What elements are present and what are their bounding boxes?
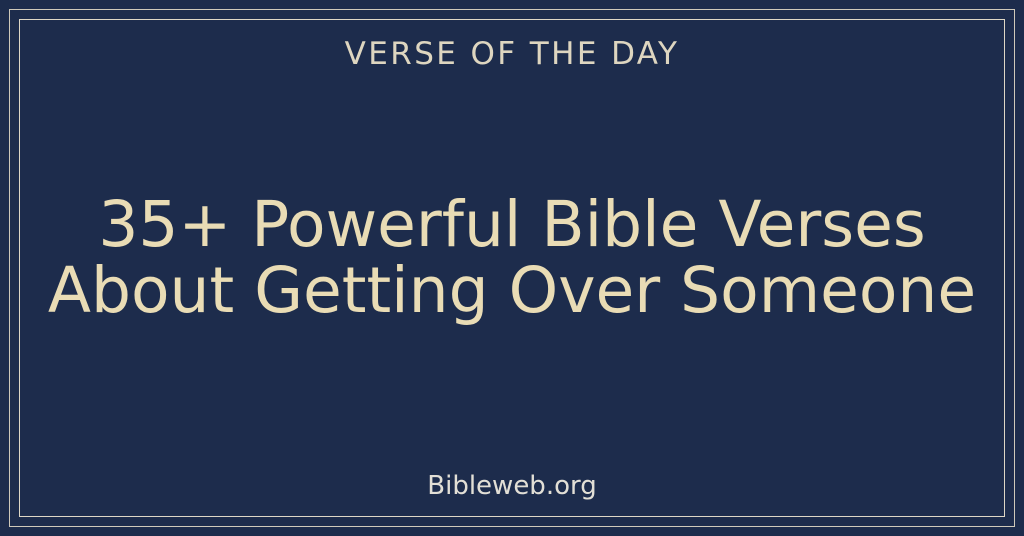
verse-of-the-day-poster: VERSE OF THE DAY 35+ Powerful Bible Vers… [0,0,1024,536]
poster-content: VERSE OF THE DAY 35+ Powerful Bible Vers… [21,21,1003,515]
headline-line-1: 35+ Powerful Bible Verses [98,192,925,259]
site-attribution: Bibleweb.org [427,472,596,501]
headline-line-2: About Getting Over Someone [48,258,976,325]
headline-block: 35+ Powerful Bible Verses About Getting … [21,45,1003,473]
